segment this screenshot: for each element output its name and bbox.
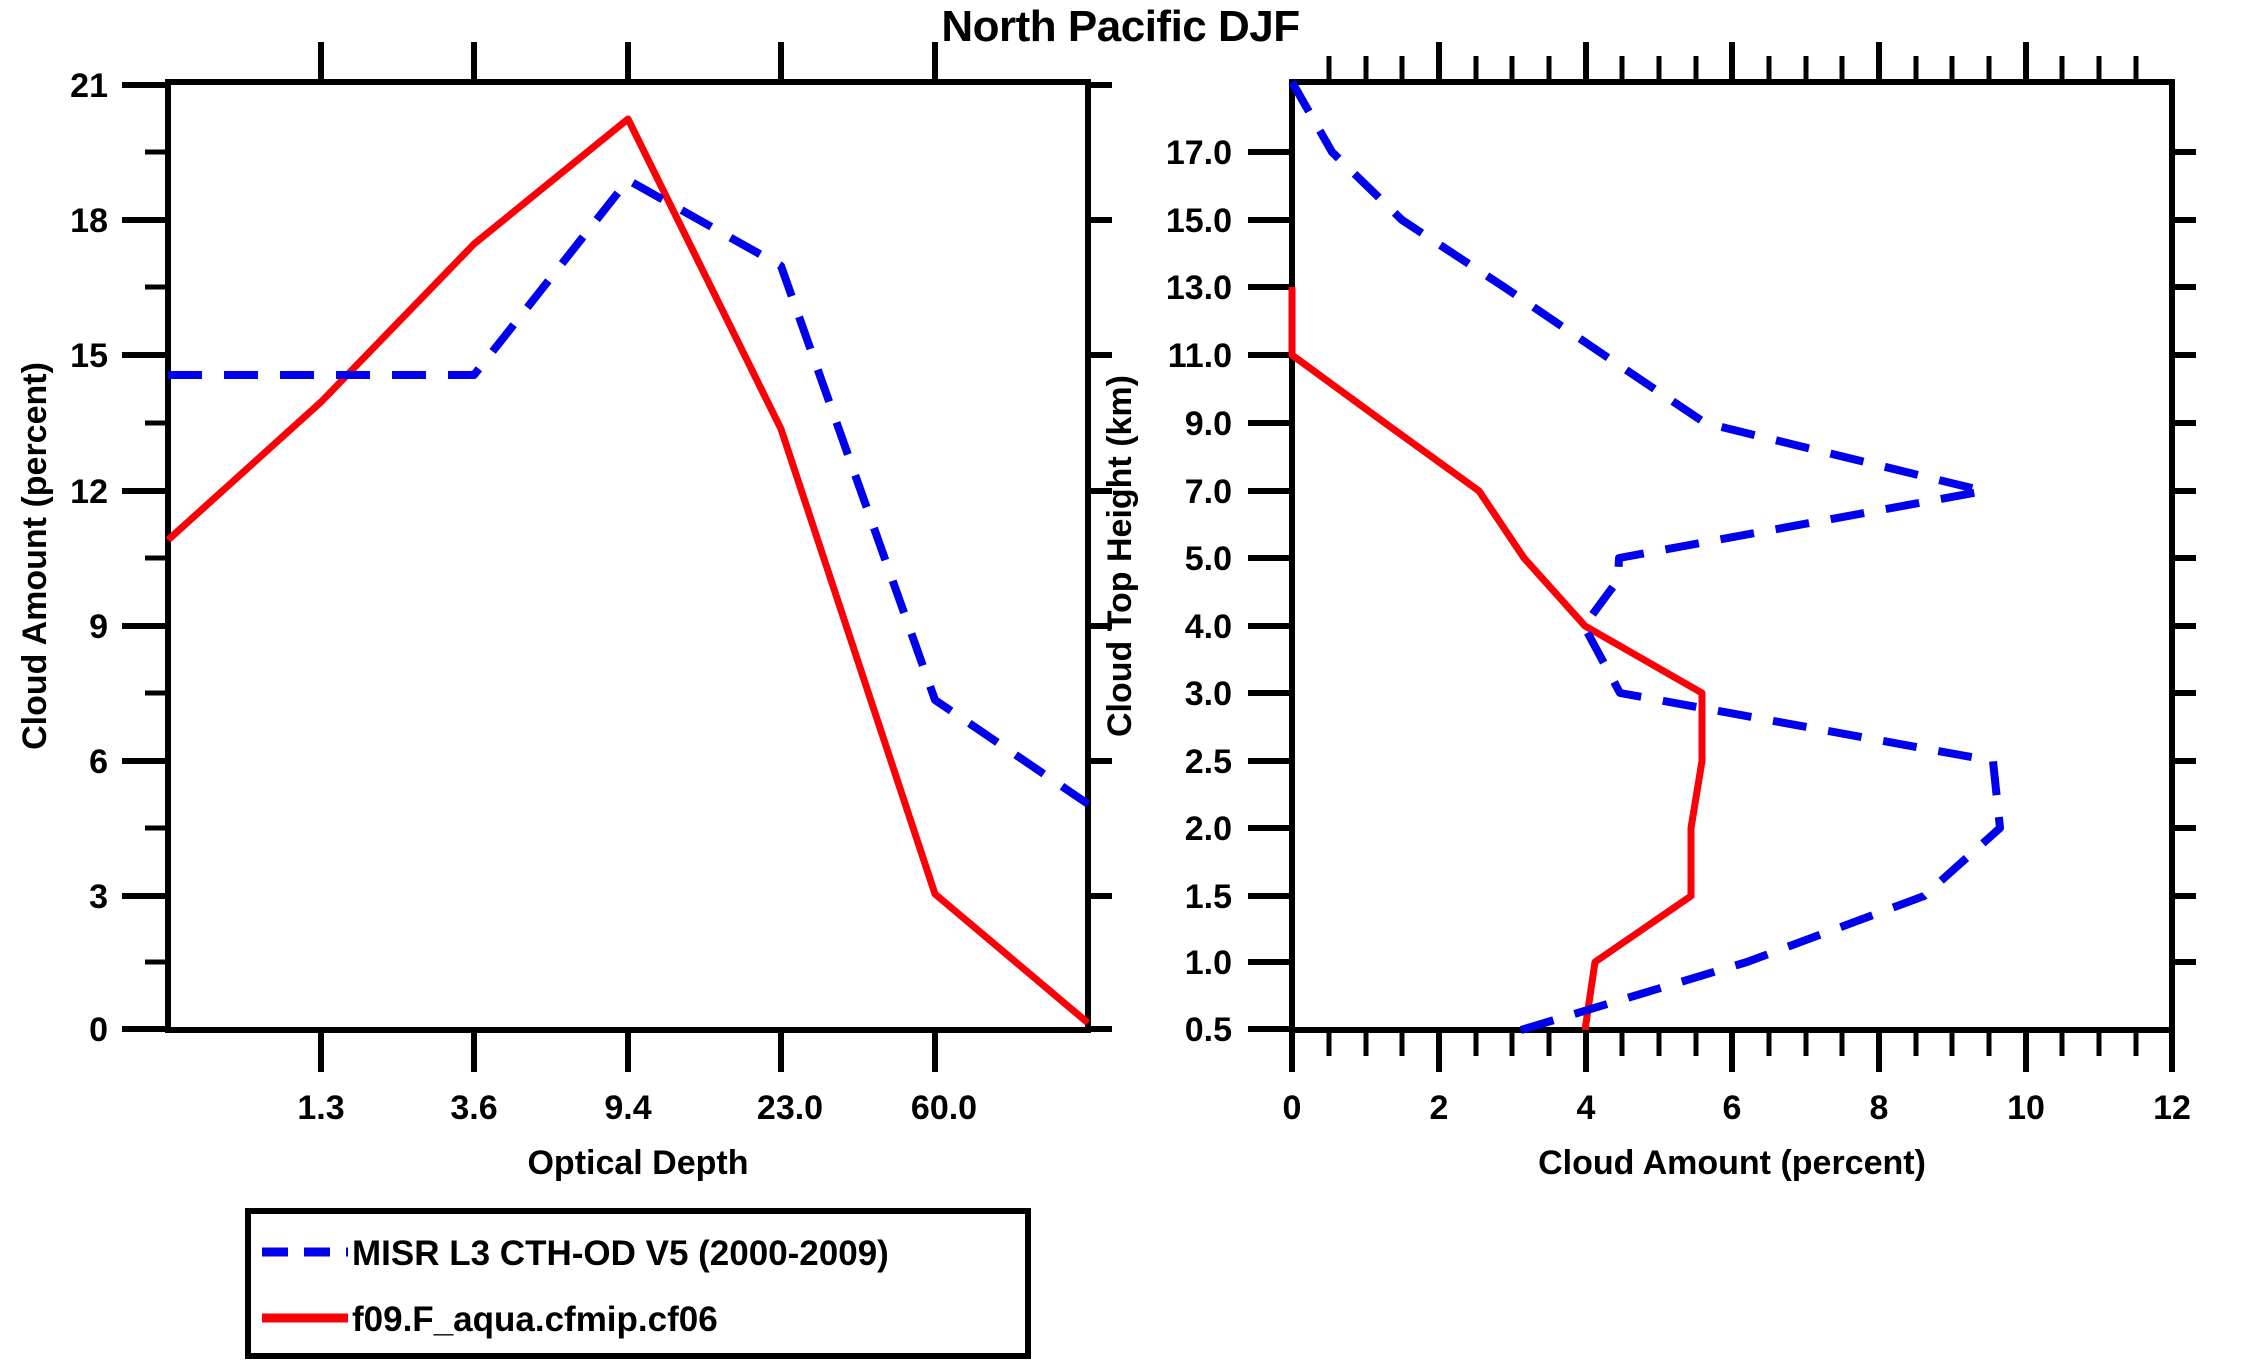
right-y-ticks	[1248, 152, 1292, 1029]
svg-text:9.4: 9.4	[604, 1089, 651, 1127]
svg-text:0: 0	[89, 1011, 108, 1049]
left-yaxis-title: Cloud Amount (percent)	[16, 362, 54, 750]
svg-text:2.0: 2.0	[1185, 810, 1232, 848]
right-x-tick-labels: 0 2 4 6 8 10 12	[1283, 1089, 2191, 1127]
svg-text:2.5: 2.5	[1185, 743, 1232, 781]
right-y-tick-labels: 17.0 15.0 13.0 11.0 9.0 7.0 5.0 4.0 3.0 …	[1166, 134, 1232, 1049]
svg-text:5.0: 5.0	[1185, 540, 1232, 578]
left-plot-frame	[168, 82, 1088, 1030]
right-panel: 17.0 15.0 13.0 11.0 9.0 7.0 5.0 4.0 3.0 …	[1101, 42, 2196, 1182]
right-series-obs-line	[1292, 82, 2000, 1030]
svg-text:23.0: 23.0	[757, 1089, 823, 1127]
left-series-model-line	[168, 119, 1088, 1023]
legend-label-model: f09.F_aqua.cfmip.cf06	[352, 1300, 718, 1339]
svg-text:18: 18	[70, 202, 108, 240]
svg-text:2: 2	[1430, 1089, 1449, 1127]
left-y-minor-ticks	[145, 152, 168, 962]
right-yaxis-title: Cloud Top Height (km)	[1101, 375, 1139, 737]
figure-root: North Pacific DJF	[0, 0, 2241, 1366]
plot-canvas: 21 18 15 12 9 6 3 0	[0, 0, 2241, 1366]
svg-text:0.5: 0.5	[1185, 1011, 1232, 1049]
svg-text:21: 21	[70, 67, 108, 105]
svg-text:9: 9	[89, 608, 108, 646]
svg-text:15.0: 15.0	[1166, 202, 1232, 240]
figure-title: North Pacific DJF	[0, 2, 2241, 52]
svg-text:15: 15	[70, 337, 108, 375]
svg-text:17.0: 17.0	[1166, 134, 1232, 172]
svg-text:8: 8	[1870, 1089, 1889, 1127]
left-series-obs-line	[168, 180, 1088, 804]
svg-text:3: 3	[89, 878, 108, 916]
svg-text:60.0: 60.0	[911, 1089, 977, 1127]
svg-text:7.0: 7.0	[1185, 473, 1232, 511]
svg-text:6: 6	[1723, 1089, 1742, 1127]
svg-text:1.3: 1.3	[297, 1089, 344, 1127]
legend-label-obs: MISR L3 CTH-OD V5 (2000-2009)	[352, 1234, 889, 1273]
left-xaxis-title: Optical Depth	[527, 1144, 748, 1182]
svg-text:4: 4	[1577, 1089, 1596, 1127]
svg-text:11.0: 11.0	[1168, 337, 1232, 375]
svg-text:3.6: 3.6	[450, 1089, 497, 1127]
legend-box: MISR L3 CTH-OD V5 (2000-2009) f09.F_aqua…	[248, 1211, 1028, 1356]
svg-text:10: 10	[2007, 1089, 2045, 1127]
svg-text:6: 6	[89, 743, 108, 781]
svg-text:1.0: 1.0	[1185, 944, 1232, 982]
right-plot-frame	[1292, 82, 2172, 1030]
left-x-bottom-ticks	[321, 1030, 935, 1072]
svg-text:12: 12	[70, 473, 108, 511]
svg-text:13.0: 13.0	[1166, 269, 1232, 307]
left-x-tick-labels: 1.3 3.6 9.4 23.0 60.0	[297, 1089, 977, 1127]
right-x-major-ticks	[1292, 1030, 2172, 1072]
svg-text:1.5: 1.5	[1185, 878, 1232, 916]
right-xaxis-title: Cloud Amount (percent)	[1538, 1144, 1926, 1182]
svg-text:4.0: 4.0	[1185, 608, 1232, 646]
svg-text:12: 12	[2153, 1089, 2191, 1127]
right-y-right-ticks	[2172, 152, 2196, 962]
svg-text:0: 0	[1283, 1089, 1302, 1127]
right-series-model-line	[1292, 287, 1702, 1030]
svg-text:3.0: 3.0	[1185, 675, 1232, 713]
left-panel: 21 18 15 12 9 6 3 0	[16, 42, 1112, 1182]
left-y-tick-labels: 21 18 15 12 9 6 3 0	[70, 67, 108, 1049]
svg-text:9.0: 9.0	[1185, 405, 1232, 443]
